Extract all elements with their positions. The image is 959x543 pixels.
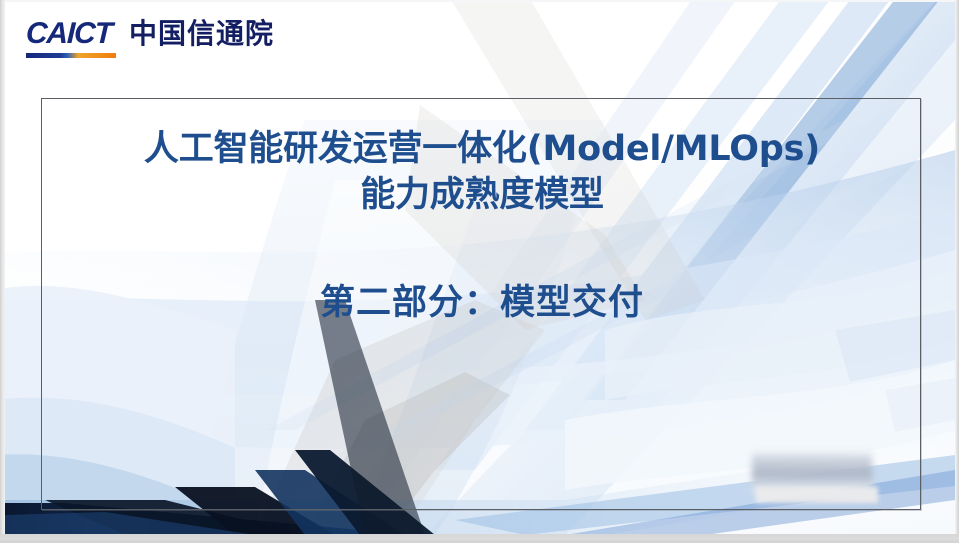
slide-title: 人工智能研发运营一体化(Model/MLOps) 能力成熟度模型 — [42, 99, 922, 218]
title-text-block: 人工智能研发运营一体化(Model/MLOps) 能力成熟度模型 第二部分：模型… — [42, 99, 922, 325]
page-gutter-right — [955, 0, 959, 543]
caict-chinese-name: 中国信通院 — [129, 20, 274, 48]
title-frame: 人工智能研发运营一体化(Model/MLOps) 能力成熟度模型 第二部分：模型… — [41, 98, 921, 510]
caict-wordmark: CAICT — [25, 19, 116, 49]
page-gutter-left — [0, 0, 5, 543]
presentation-slide: CAICT 中国信通院 人工智能研发运营一体化(Model/MLOps) 能力成… — [0, 0, 959, 543]
page-gutter-bottom — [0, 534, 959, 543]
slide-title-line2: 能力成熟度模型 — [42, 172, 922, 218]
caict-wordmark-block: CAICT — [26, 19, 116, 58]
caict-logo: CAICT 中国信通院 — [26, 19, 274, 58]
slide-subtitle: 第二部分：模型交付 — [42, 218, 922, 325]
slide-title-line1: 人工智能研发运营一体化(Model/MLOps) — [144, 129, 820, 169]
caict-logo-underline-bar — [26, 53, 116, 58]
page-gutter-top — [0, 0, 959, 2]
